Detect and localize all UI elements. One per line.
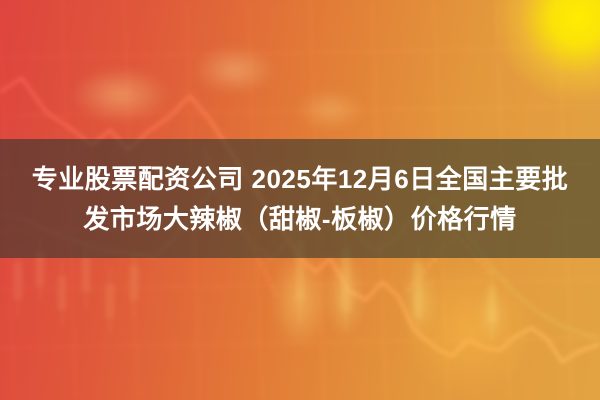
headline-line-2: 发市场大辣椒（甜椒-板椒）价格行情	[83, 199, 516, 239]
promo-banner: 专业股票配资公司 2025年12月6日全国主要批 发市场大辣椒（甜椒-板椒）价格…	[0, 0, 600, 400]
headline-band: 专业股票配资公司 2025年12月6日全国主要批 发市场大辣椒（甜椒-板椒）价格…	[0, 139, 600, 258]
headline-line-1: 专业股票配资公司 2025年12月6日全国主要批	[32, 159, 568, 199]
